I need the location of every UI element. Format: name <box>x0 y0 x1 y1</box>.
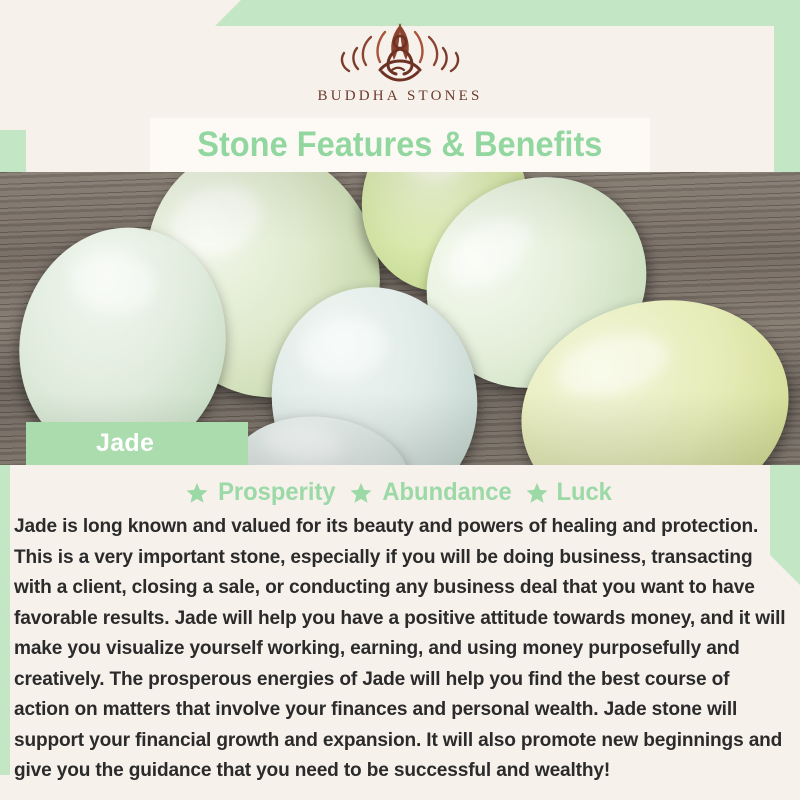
benefits-row: Prosperity Abundance Luck <box>0 478 800 507</box>
lotus-meditation-icon <box>330 20 470 84</box>
brand-name: BUDDHA STONES <box>317 88 482 105</box>
stone-description: Jade is long known and valued for its be… <box>14 512 788 787</box>
benefit-item: Luck <box>526 478 613 507</box>
stone-name-label: Jade <box>26 422 248 465</box>
decoration-left-text <box>0 465 10 775</box>
benefit-label: Abundance <box>382 478 511 507</box>
benefit-label: Luck <box>557 478 612 507</box>
star-icon <box>350 482 372 504</box>
poster: BUDDHA STONES Stone Features & Benefits … <box>0 0 800 800</box>
star-icon <box>526 482 548 504</box>
page-title: Stone Features & Benefits <box>197 125 602 165</box>
benefit-item: Prosperity <box>186 478 339 507</box>
stone-name: Jade <box>96 429 154 458</box>
star-icon <box>186 482 208 504</box>
benefit-label: Prosperity <box>219 478 336 507</box>
benefit-item: Abundance <box>350 478 515 507</box>
brand-header: BUDDHA STONES <box>0 0 800 118</box>
title-banner: Stone Features & Benefits <box>150 118 650 172</box>
